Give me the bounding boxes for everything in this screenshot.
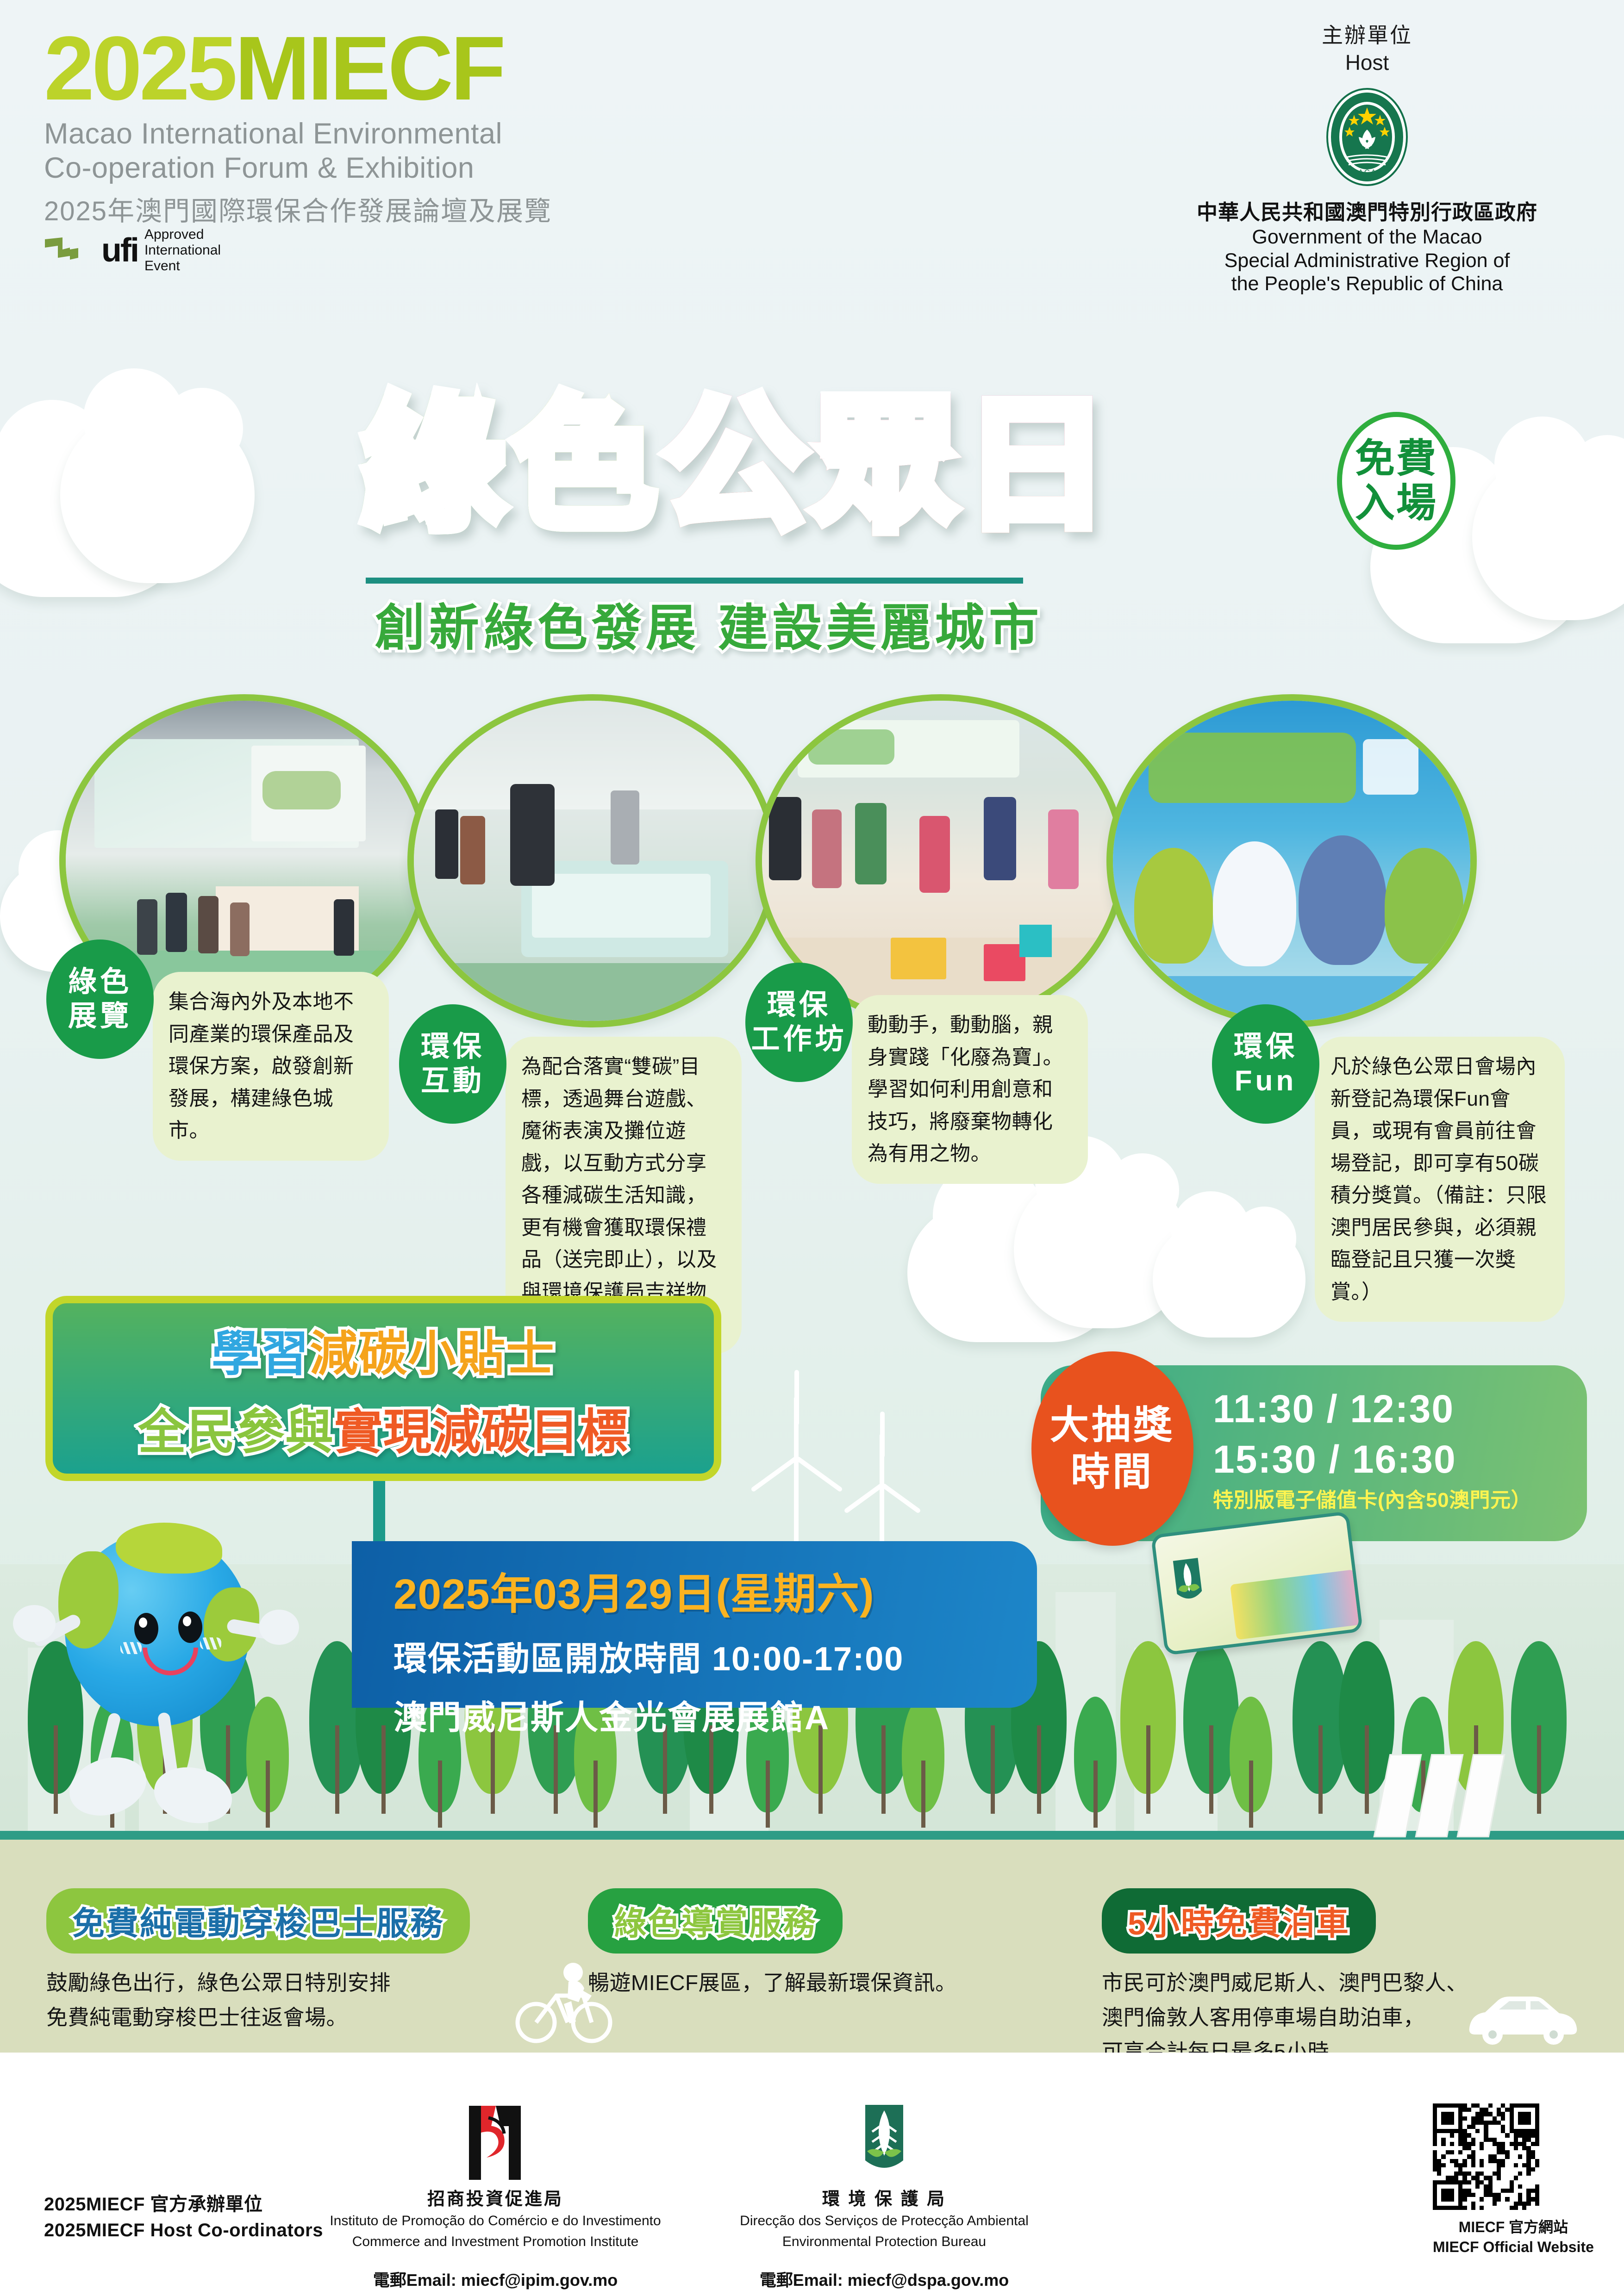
dspa-email: 電郵Email: miecf@dspa.gov.mo	[704, 2267, 1065, 2291]
pill-line1: 綠色	[68, 965, 132, 999]
mascot-eye-left	[134, 1613, 158, 1644]
pill-line2: 工作坊	[751, 1022, 847, 1057]
host-name-en-line1: Government of the Macao	[1170, 225, 1564, 249]
prize-card-mascot-strip	[1230, 1569, 1361, 1640]
lucky-draw-prize-note: 特別版電子儲值卡(內含50澳門元）	[1213, 1483, 1531, 1513]
ufi-tag-line3: Event	[144, 258, 221, 274]
pill-line1: 環保	[767, 988, 831, 1022]
tip-line-1: 學習減碳小貼士	[212, 1314, 555, 1384]
qr-caption-en: MIECF Official Website	[1433, 2237, 1594, 2257]
host-label-en: Host	[1170, 50, 1564, 75]
service-shuttle-bus: 免費純電動穿梭巴士服務 鼓勵綠色出行，綠色公眾日特別安排 免費純電動穿梭巴士往返…	[46, 1888, 546, 2035]
card-description: 集合海內外及本地不同產業的環保產品及環保方案，啟發創新發展，構建綠色城市。	[153, 972, 389, 1161]
event-date: 2025年03月29日(星期六)	[394, 1560, 1037, 1621]
mascot-blush-left	[120, 1642, 142, 1654]
earth-mascot	[9, 1527, 306, 1851]
car-icon	[1463, 1990, 1583, 2048]
service-title: 免費純電動穿梭巴士服務	[72, 1905, 444, 1941]
ufi-tagline: Approved International Event	[144, 227, 221, 274]
ufi-approved-logo: ufi Approved International Event	[44, 227, 221, 274]
lucky-draw-times: 11:30 / 12:30 15:30 / 16:30	[1213, 1384, 1456, 1485]
hero-subtitle: 創新綠色發展 建設美麗城市	[375, 588, 1043, 660]
tip-line-2: 全民參與實現減碳目標	[138, 1393, 629, 1462]
free-admission-badge: 免費 入場	[1337, 412, 1455, 550]
service-body: 鼓勵綠色出行，綠色公眾日特別安排 免費純電動穿梭巴士往返會場。	[46, 1966, 546, 2035]
poster-header: 2025MIECF Macao International Environmen…	[0, 0, 1624, 380]
tip-line1-part1: 學習	[212, 1327, 310, 1381]
event-details-panel: 2025年03月29日(星期六) 環保活動區開放時間 10:00-17:00 澳…	[352, 1541, 1037, 1708]
pill-line2: 互動	[421, 1064, 485, 1098]
mascot-eye-right	[178, 1612, 202, 1643]
mascot-hand-left	[13, 1605, 56, 1642]
miecf-year: 2025	[44, 18, 235, 119]
mascot-smile	[143, 1648, 198, 1675]
lucky-draw-times-line1: 11:30 / 12:30	[1213, 1384, 1456, 1434]
ipim-logo-icon	[296, 2101, 694, 2184]
qr-caption-cn: MIECF 官方網站	[1433, 2217, 1594, 2237]
ipim-name-cn: 招商投資促進局	[296, 2184, 694, 2210]
prize-stored-value-card	[1151, 1511, 1363, 1655]
service-tab: 免費純電動穿梭巴士服務	[46, 1888, 470, 1954]
pill-line2: Fun	[1235, 1064, 1297, 1098]
ufi-tag-line2: International	[144, 243, 221, 258]
dspa-logo-icon	[704, 2101, 1065, 2184]
service-tab: 5小時免費泊車	[1102, 1888, 1376, 1954]
service-body: 暢遊MIECF展區，了解最新環保資訊。	[588, 1966, 1060, 2000]
poster-root: 2025MIECF Macao International Environmen…	[0, 0, 1624, 2296]
mascot-shoe-left	[62, 1748, 154, 1825]
service-green-guided-tour: 綠色導賞服務 暢遊MIECF展區，了解最新環保資訊。	[588, 1888, 1060, 2000]
card-photo	[407, 694, 778, 1027]
host-coordinators-label: 2025MIECF 官方承辦單位 2025MIECF Host Co-ordin…	[44, 2191, 323, 2243]
service-title: 綠色導賞服務	[614, 1905, 817, 1941]
official-website-qr[interactable]: MIECF 官方網站 MIECF Official Website	[1433, 2103, 1594, 2257]
hero-divider	[366, 578, 1023, 584]
ipim-name-pt: Instituto de Promoção do Comércio e do I…	[296, 2212, 694, 2231]
service-body-line1: 暢遊MIECF展區，了解最新環保資訊。	[588, 1966, 1060, 2000]
mascot-blush-right	[200, 1637, 221, 1649]
service-tab: 綠色導賞服務	[588, 1888, 843, 1954]
earth-mascot-body	[65, 1532, 250, 1726]
miecf-wordmark: 2025MIECF	[44, 25, 552, 112]
miecf-logo: 2025MIECF Macao International Environmen…	[44, 25, 552, 228]
hero-title-part3: 公眾日	[663, 393, 1116, 537]
ipim-name-en: Commerce and Investment Promotion Instit…	[296, 2233, 694, 2252]
subtitle-cn: 2025年澳門國際環保合作發展論壇及展覽	[44, 189, 552, 228]
host-name-en-line2: Special Administrative Region of	[1170, 249, 1564, 273]
tree-icon	[1120, 1641, 1176, 1845]
hero-title: 綠色公眾日	[361, 393, 1116, 537]
dspa-name-pt: Direcção dos Serviços de Protecção Ambie…	[704, 2212, 1065, 2231]
qr-code-icon[interactable]	[1433, 2103, 1539, 2210]
prize-card-leaf-icon	[1169, 1555, 1207, 1609]
continent-shape	[116, 1523, 222, 1574]
hero-title-part2: 色	[512, 393, 663, 537]
ufi-wordmark: ufi	[101, 236, 138, 266]
subtitle-en-line1: Macao International Environmental	[44, 117, 552, 151]
service-body-line1: 鼓勵綠色出行，綠色公眾日特別安排	[46, 1966, 546, 2000]
event-venue: 澳門威尼斯人金光會展展館A	[394, 1690, 1037, 1739]
ipim-email: 電郵Email: miecf@ipim.gov.mo	[296, 2267, 694, 2291]
dspa-name-en: Environmental Protection Bureau	[704, 2233, 1065, 2252]
card-description: 動動手，動動腦，親身實踐「化廢為寶」。學習如何利用創意和技巧，將廢棄物轉化為有用…	[852, 995, 1088, 1184]
tree-icon	[1511, 1641, 1567, 1845]
emblem-macau-text: MACAU	[1350, 168, 1383, 177]
card-photo	[1106, 694, 1477, 1027]
tip-line2-part1: 全民參與	[138, 1406, 334, 1459]
card-pill-label: 環保 互動	[399, 1004, 506, 1124]
card-description: 凡於綠色公眾日會場內新登記為環保Fun會員，或現有會員前往會場登記，即可享有50…	[1315, 1037, 1565, 1322]
coordinators-cn: 2025MIECF 官方承辦單位	[44, 2191, 323, 2217]
free-badge-line1: 免費	[1355, 436, 1437, 481]
photo-image-interactive-booth	[414, 701, 771, 1021]
lucky-draw-circle-label: 大抽獎 時間	[1031, 1351, 1193, 1546]
pill-line1: 環保	[1234, 1030, 1298, 1064]
coordinators-en: 2025MIECF Host Co-ordinators	[44, 2217, 323, 2243]
lucky-draw-title-line1: 大抽獎	[1050, 1402, 1175, 1449]
mascot-hand-right	[259, 1610, 299, 1645]
ufi-tag-line1: Approved	[144, 227, 221, 243]
host-label-cn: 主辦單位	[1170, 19, 1564, 49]
mascot-shoe-right	[149, 1761, 237, 1830]
card-pill-label: 環保 工作坊	[745, 963, 853, 1082]
carbon-tips-signboard: 學習減碳小貼士 全民參與實現減碳目標	[45, 1296, 721, 1481]
pill-line1: 環保	[421, 1030, 485, 1064]
free-badge-line2: 入場	[1355, 481, 1437, 525]
event-hours: 環保活動區開放時間 10:00-17:00	[394, 1631, 1037, 1680]
host-name-en-line3: the People's Republic of China	[1170, 272, 1564, 296]
service-body-line2: 免費純電動穿梭巴士往返會場。	[46, 2000, 546, 2035]
host-name-cn: 中華人民共和國澳門特別行政區政府	[1170, 195, 1564, 225]
ufi-flag-icon	[44, 236, 95, 265]
miecf-mark: MIECF	[235, 18, 503, 119]
lucky-draw-times-line2: 15:30 / 16:30	[1213, 1434, 1456, 1485]
subtitle-en-line2: Co-operation Forum & Exhibition	[44, 151, 552, 186]
host-block: 主辦單位 Host	[1170, 19, 1564, 296]
tip-line2-part2: 實現減碳目標	[334, 1406, 629, 1459]
pill-line2: 展覽	[68, 999, 132, 1033]
lucky-draw-title-line2: 時間	[1071, 1449, 1154, 1495]
tip-line1-part2: 減碳小貼士	[310, 1327, 555, 1381]
hero-title-part1: 綠	[361, 393, 512, 537]
continent-shape	[58, 1551, 119, 1649]
cloud-decoration	[1153, 1222, 1305, 1338]
macao-sar-emblem-icon: MACAU	[1325, 87, 1409, 187]
service-title: 5小時免費泊車	[1128, 1905, 1350, 1941]
footer-org-dspa: 環 境 保 護 局 Direcção dos Serviços de Prote…	[704, 2101, 1065, 2291]
photo-image-eco-fun-mascots	[1113, 701, 1470, 1021]
card-pill-label: 環保 Fun	[1212, 1004, 1319, 1124]
qr-caption: MIECF 官方網站 MIECF Official Website	[1433, 2217, 1594, 2257]
card-pill-label: 綠色 展覽	[46, 940, 154, 1059]
dspa-name-cn: 環 境 保 護 局	[704, 2184, 1065, 2210]
footer-org-ipim: 招商投資促進局 Instituto de Promoção do Comérci…	[296, 2101, 694, 2291]
